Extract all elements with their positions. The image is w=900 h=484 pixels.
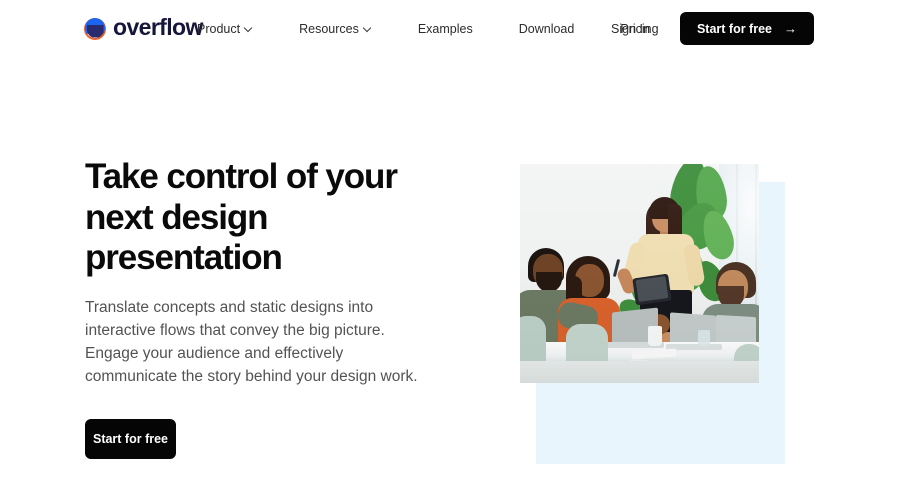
sign-in-link[interactable]: Sign In [611,22,650,36]
arrow-right-icon: → [784,22,797,35]
site-header: overflow Product Resources Examples Down… [0,0,900,57]
hero-start-for-free-button[interactable]: Start for free [85,419,176,459]
brand-name: overflow [113,16,203,41]
chevron-down-icon [364,24,372,32]
nav-item-label: Download [519,22,575,36]
primary-navigation: Product Resources Examples Download Pric… [197,0,659,57]
nav-item-resources[interactable]: Resources [299,16,372,42]
nav-item-label: Examples [418,22,473,36]
hero-copy: Take control of your next design present… [85,157,445,459]
header-start-for-free-button[interactable]: Start for free → [680,12,814,45]
hero-photo [520,164,759,383]
nav-item-product[interactable]: Product [197,16,253,42]
brand-logo-link[interactable]: overflow [84,16,203,41]
nav-item-label: Product [197,22,240,36]
nav-item-download[interactable]: Download [519,16,575,42]
chevron-down-icon [245,24,253,32]
hero-section: Take control of your next design present… [0,57,900,484]
hero-subtitle: Translate concepts and static designs in… [85,297,425,389]
header-actions: Sign In Start for free → [611,0,814,57]
nav-item-examples[interactable]: Examples [418,16,473,42]
overflow-circle-logo-icon [84,18,106,40]
nav-item-label: Resources [299,22,359,36]
hero-media [520,164,785,466]
hero-title: Take control of your next design present… [85,157,435,279]
landing-page: overflow Product Resources Examples Down… [0,0,900,484]
header-cta-label: Start for free [697,22,772,36]
